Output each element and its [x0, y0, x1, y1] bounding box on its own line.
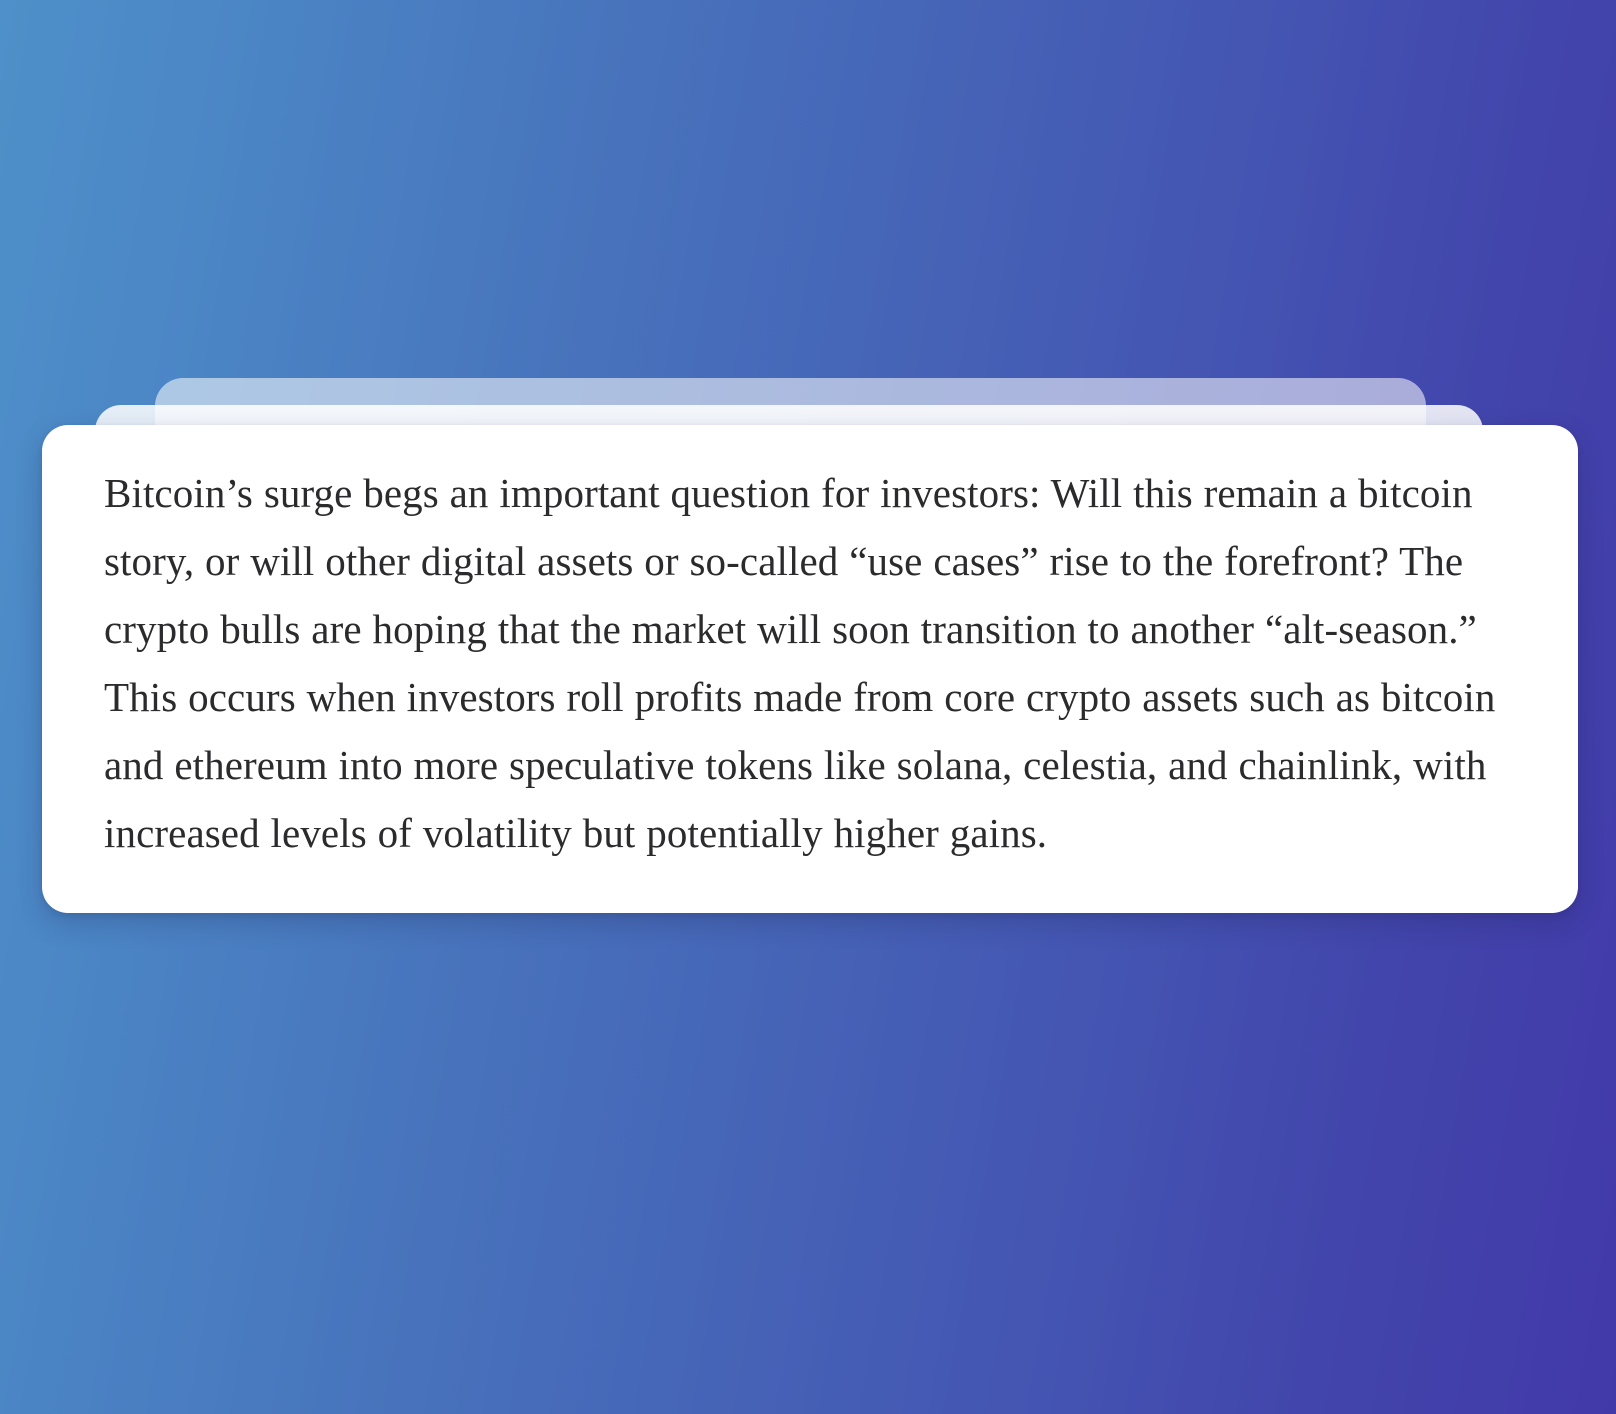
quote-card-canvas: Bitcoin’s surge begs an important questi… — [0, 0, 1616, 1414]
quote-body-text: Bitcoin’s surge begs an important questi… — [104, 459, 1516, 867]
quote-card: Bitcoin’s surge begs an important questi… — [42, 425, 1578, 913]
